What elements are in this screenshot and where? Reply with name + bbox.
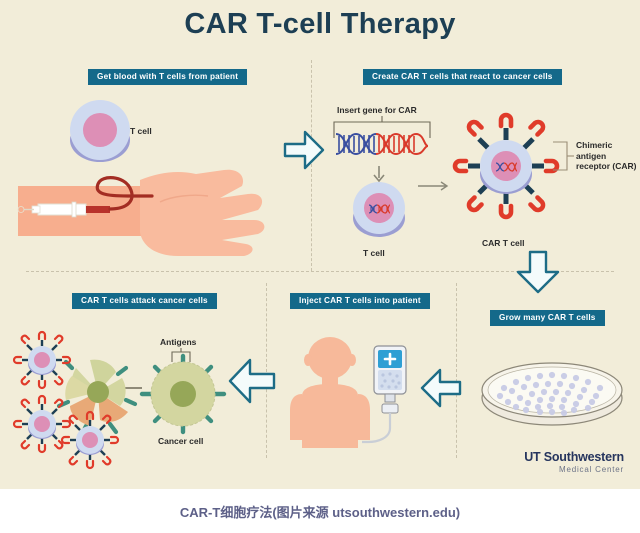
insert-gene-label: Insert gene for CAR	[337, 105, 417, 116]
dna-with-car-gene-illustration	[330, 116, 434, 162]
cancer-cell-intact-illustration	[138, 352, 228, 436]
car-tcell-attacker-3	[62, 412, 118, 468]
arrow-right-to-car-tcell	[418, 180, 452, 192]
banner-attack-cancer-cells: CAR T cells attack cancer cells	[72, 293, 217, 309]
banner-create-car-tcells: Create CAR T cells that react to cancer …	[363, 69, 562, 85]
tcell-illustration-collect	[62, 100, 138, 170]
tcell-label-engineered: T cell	[363, 248, 385, 259]
antigens-label: Antigens	[160, 337, 196, 348]
tcell-illustration-engineered	[346, 182, 412, 244]
infographic-canvas: CAR T-cell Therapy Get blood with T cell…	[0, 0, 640, 489]
receptor-callout-bracket	[551, 140, 575, 172]
page-title: CAR T-cell Therapy	[0, 8, 640, 41]
petri-dish-illustration	[478, 352, 626, 436]
arrow-right-to-create	[283, 128, 325, 172]
car-tcell-label: CAR T cell	[482, 238, 525, 249]
cancer-cell-label: Cancer cell	[158, 436, 203, 447]
arm-with-syringe-illustration	[10, 150, 280, 260]
banner-get-blood: Get blood with T cells from patient	[88, 69, 247, 85]
ut-southwestern-logo: UT Southwestern Medical Center	[524, 451, 624, 474]
arrow-left-to-inject	[420, 366, 462, 410]
car-tcell-illustration	[452, 112, 560, 230]
car-tcell-attacker-1	[14, 332, 70, 388]
image-caption: CAR-T细胞疗法(图片来源 utsouthwestern.edu)	[0, 489, 640, 533]
logo-name: UT Southwestern	[524, 451, 624, 464]
banner-grow-many: Grow many CAR T cells	[490, 310, 605, 326]
car-receptor-label: Chimeric antigen receptor (CAR)	[576, 140, 640, 172]
tcell-label-collect: T cell	[130, 126, 152, 137]
logo-subtitle: Medical Center	[524, 466, 624, 474]
patient-with-iv-illustration	[282, 336, 412, 458]
arrow-left-to-attack	[228, 356, 276, 406]
banner-inject-car-tcells: Inject CAR T cells into patient	[290, 293, 430, 309]
arrow-down-to-grow	[516, 250, 560, 294]
